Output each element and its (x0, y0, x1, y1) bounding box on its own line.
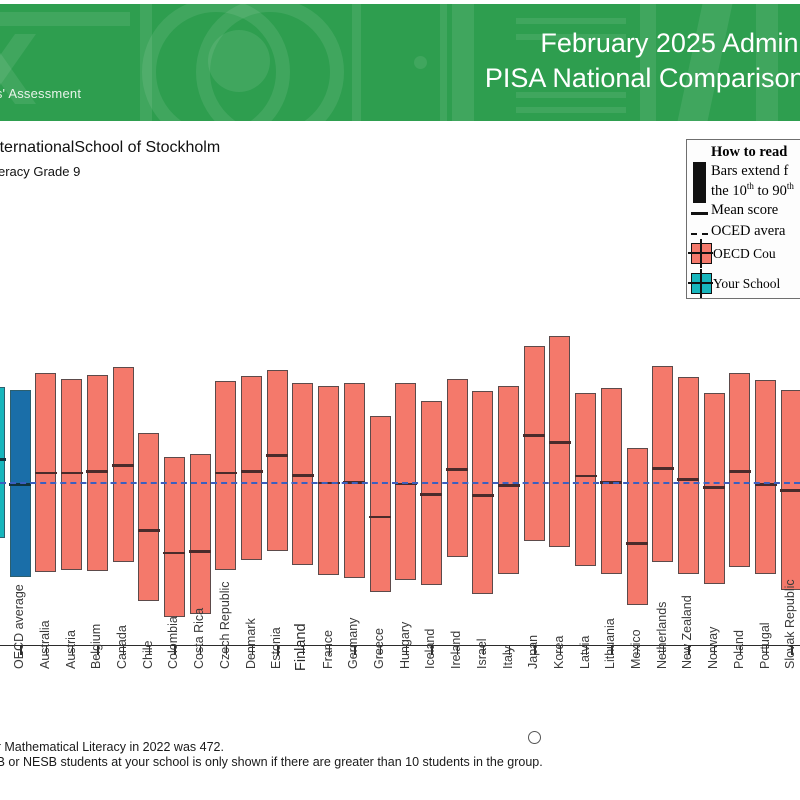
x-label-france: France (321, 630, 335, 669)
mean-line (652, 467, 674, 470)
mean-line (215, 472, 237, 475)
bar-costa-rica[interactable] (190, 454, 211, 614)
watermark-shape (516, 107, 626, 113)
mean-line (677, 478, 699, 481)
bar-netherlands[interactable] (652, 366, 673, 562)
mean-line (163, 552, 185, 555)
x-label-germany: Germany (346, 618, 360, 669)
bar-australia[interactable] (35, 373, 56, 572)
bar-greece[interactable] (370, 416, 391, 592)
mean-line (138, 529, 160, 532)
x-label-slovak-republic: Slovak Republic (783, 579, 797, 669)
mean-line (0, 458, 6, 461)
x-label-netherlands: Netherlands (655, 602, 669, 669)
bar-latvia[interactable] (575, 393, 596, 566)
mean-line (498, 484, 520, 487)
legend-swatch-your-school (691, 273, 712, 294)
mean-line (575, 475, 597, 478)
footnote-line1: age for Mathematical Literacy in 2022 wa… (0, 740, 224, 754)
bar-colombia[interactable] (164, 457, 185, 617)
bar-new-zealand[interactable] (678, 377, 699, 574)
x-label-japan: Japan (526, 635, 540, 669)
bar-lithuania[interactable] (601, 388, 622, 574)
mean-line (61, 472, 83, 475)
mean-line (86, 470, 108, 473)
x-label-hungary: Hungary (398, 622, 412, 669)
mean-line (35, 472, 57, 475)
x-label-poland: Poland (732, 630, 746, 669)
watermark-shape (352, 4, 361, 121)
x-label-portugal: Portugal (758, 622, 772, 669)
bar-your-school[interactable] (0, 387, 5, 537)
mean-line (626, 542, 648, 545)
bar-czech-republic[interactable] (215, 381, 236, 570)
x-label-korea: Korea (552, 636, 566, 669)
x-label-new-zealand: New Zealand (680, 595, 694, 669)
banner-title: February 2025 Adminis PISA National Comp… (485, 26, 800, 96)
bar-norway[interactable] (704, 393, 725, 583)
legend-oced-label: OCED avera (711, 223, 785, 240)
bar-france[interactable] (318, 386, 339, 575)
mean-line (420, 493, 442, 496)
bar-belgium[interactable] (87, 375, 108, 571)
x-label-israel: Israel (475, 638, 489, 669)
percentile-bar-icon (693, 162, 706, 203)
x-label-colombia: Colombia (166, 616, 180, 669)
legend-key-school-label: Your School (713, 276, 780, 292)
bar-ireland[interactable] (447, 379, 468, 556)
x-label-ireland: Ireland (449, 631, 463, 669)
legend-key-oecd-label: OECD Cou (713, 246, 776, 262)
x-label-italy: Italy (501, 646, 515, 669)
x-label-iceland: Iceland (423, 629, 437, 669)
bar-israel[interactable] (472, 391, 493, 594)
mean-line (703, 486, 725, 489)
bar-austria[interactable] (61, 379, 82, 570)
bar-poland[interactable] (729, 373, 750, 567)
mean-line (189, 550, 211, 553)
subject-grade-line: cal Literacy Grade 9 (0, 164, 80, 179)
mean-line (241, 470, 263, 473)
footnote-line2: of ESB or NESB students at your school i… (0, 755, 543, 769)
bar-japan[interactable] (524, 346, 545, 541)
watermark-shape (452, 4, 474, 121)
mean-line (266, 454, 288, 457)
x-label-chile: Chile (141, 641, 155, 670)
x-label-greece: Greece (372, 628, 386, 669)
legend-mean-label: Mean score (711, 202, 778, 219)
mean-line-icon (691, 212, 708, 215)
x-label-norway: Norway (706, 627, 720, 669)
x-label-denmark: Denmark (244, 618, 258, 669)
x-label-oecd-average: OECD average (12, 584, 26, 669)
watermark-dot (208, 30, 270, 92)
x-label-estonia: Estonia (269, 627, 283, 669)
legend-title: How to read (711, 144, 787, 161)
bar-portugal[interactable] (755, 380, 776, 574)
legend-box: How to read Bars extend f the 10th to 90… (686, 139, 800, 299)
legend-desc-line2: the 10th to 90th (711, 181, 794, 200)
x-label-canada: Canada (115, 625, 129, 669)
bar-korea[interactable] (549, 336, 570, 546)
mean-line (472, 494, 494, 497)
oced-average-line-icon (691, 233, 708, 235)
bar-germany[interactable] (344, 383, 365, 579)
mean-line (523, 434, 545, 437)
bar-estonia[interactable] (267, 370, 288, 551)
oecd-average-dashed-line (0, 482, 800, 484)
mouse-cursor (528, 731, 541, 744)
x-label-czech-republic: Czech Republic (218, 581, 232, 669)
bar-slovak-republic[interactable] (781, 390, 800, 590)
mean-line (549, 441, 571, 444)
bar-iceland[interactable] (421, 401, 442, 585)
watermark-shape (516, 18, 626, 24)
x-label-austria: Austria (64, 630, 78, 669)
bar-chile[interactable] (138, 433, 159, 601)
legend-desc-line1: Bars extend f (711, 163, 788, 180)
watermark-shape (440, 4, 447, 121)
header-banner: l Schools' Assessment February 2025 Admi… (0, 4, 800, 121)
x-label-costa-rica: Costa Rica (192, 608, 206, 669)
bar-italy[interactable] (498, 386, 519, 575)
watermark-dot (414, 56, 427, 69)
legend-swatch-oecd (691, 243, 712, 264)
banner-org-name: l Schools' Assessment (0, 86, 81, 101)
banner-title-line1: February 2025 Adminis (485, 26, 800, 61)
mean-line (369, 516, 391, 519)
watermark-shape (0, 12, 130, 26)
mean-line (729, 470, 751, 473)
bar-mexico[interactable] (627, 448, 648, 605)
bar-denmark[interactable] (241, 376, 262, 560)
x-label-belgium: Belgium (89, 624, 103, 669)
x-label-mexico: Mexico (629, 629, 643, 669)
mean-line (780, 489, 800, 492)
bar-finland[interactable] (292, 383, 313, 565)
mean-line (446, 468, 468, 471)
x-label-lithuania: Lithuania (603, 618, 617, 669)
x-label-latvia: Latvia (578, 636, 592, 669)
bar-canada[interactable] (113, 367, 134, 562)
x-label-finland: Finland (293, 623, 309, 671)
banner-title-line2: PISA National Comparisons (485, 61, 800, 96)
mean-line (112, 464, 134, 467)
school-name: olanInternationalSchool of Stockholm (0, 139, 220, 157)
x-label-australia: Australia (38, 620, 52, 669)
mean-line (292, 474, 314, 477)
